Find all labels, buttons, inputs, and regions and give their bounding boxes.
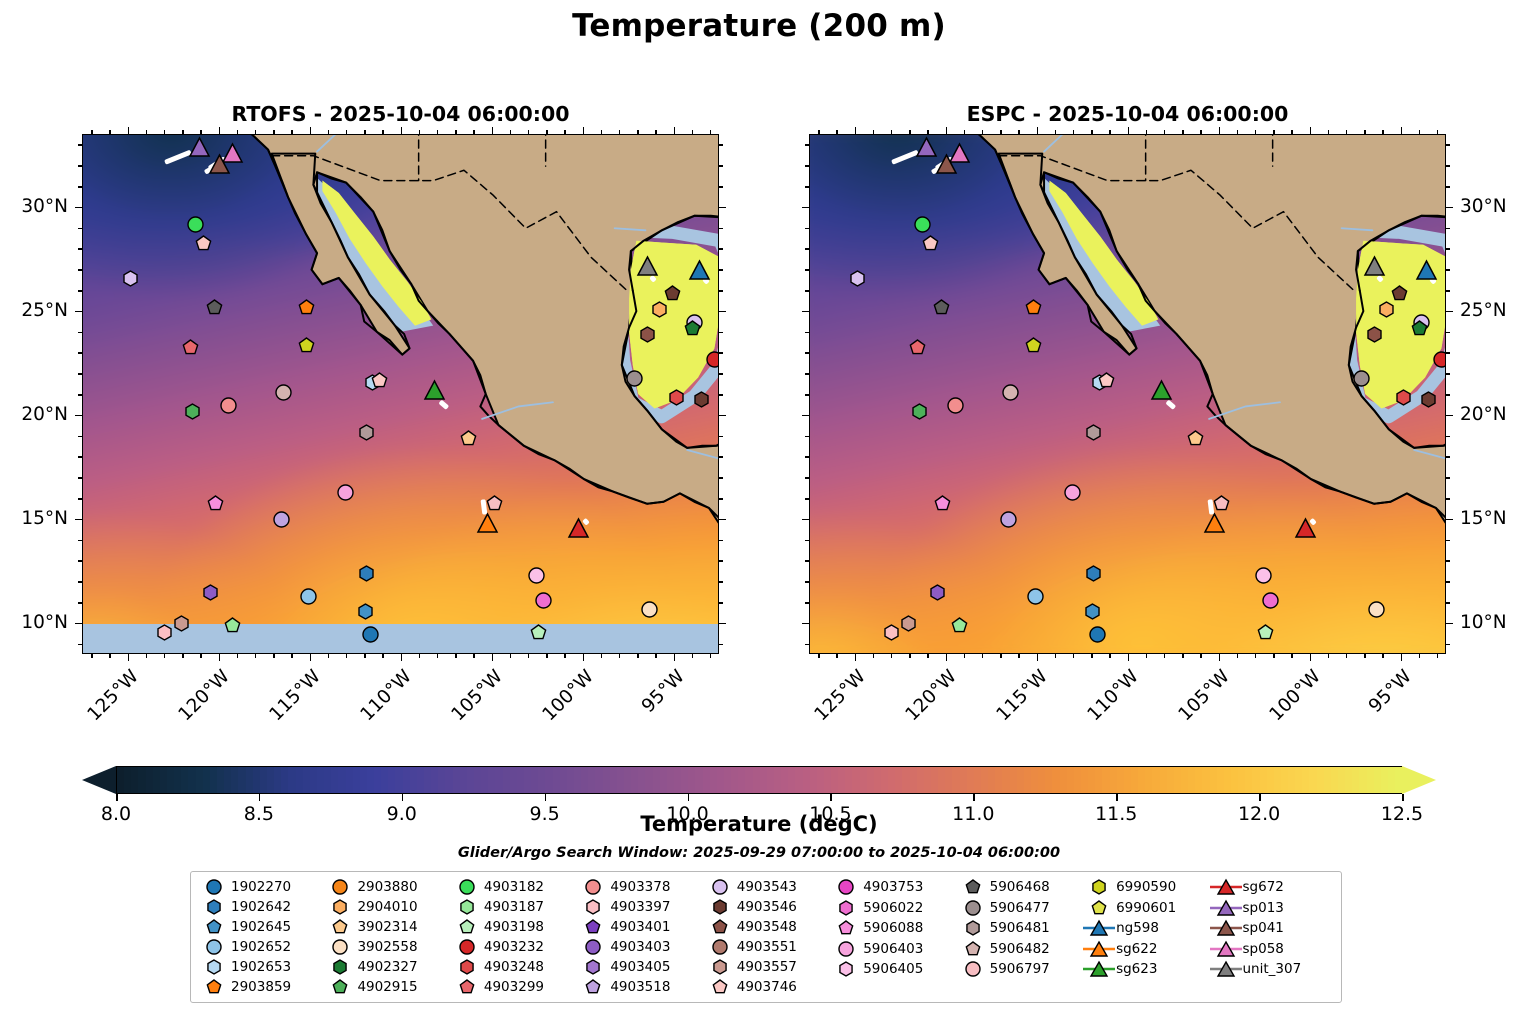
colorbar-tick <box>973 794 975 801</box>
y-axis-minor-tick <box>1446 498 1450 500</box>
colorbar-segment <box>1074 767 1081 793</box>
colorbar-segment <box>1067 767 1074 793</box>
platform-marker-5906477[interactable] <box>1353 370 1370 387</box>
platform-marker-4903518[interactable] <box>1000 511 1017 528</box>
legend-label: 5906477 <box>990 900 1050 916</box>
platform-marker-4903551[interactable] <box>486 495 503 512</box>
x-axis-minor-tick <box>601 654 603 658</box>
platform-marker-4903248[interactable] <box>1395 389 1412 406</box>
legend-label: 5906797 <box>990 961 1050 977</box>
legend-label: 4903518 <box>610 979 670 995</box>
colorbar-segment <box>1145 767 1152 793</box>
legend-item-4903557[interactable]: 4903557 <box>703 957 827 977</box>
colorbar-segment <box>603 767 610 793</box>
colorbar-segment <box>353 767 360 793</box>
y-axis-minor-tick <box>78 144 82 146</box>
legend-item-4903546[interactable]: 4903546 <box>703 897 827 917</box>
platform-marker-4903378[interactable] <box>947 397 964 414</box>
x-axis-minor-tick <box>1273 130 1275 134</box>
colorbar-segment <box>960 767 967 793</box>
x-axis-minor-tick <box>364 654 366 658</box>
x-axis-tick <box>1128 127 1130 134</box>
legend-label: 4903232 <box>484 939 544 955</box>
y-axis-minor-tick <box>78 269 82 271</box>
colorbar-segment <box>410 767 417 793</box>
colorbar-segment <box>1267 767 1274 793</box>
y-axis-tick <box>802 311 809 313</box>
platform-marker-5906468[interactable] <box>206 299 223 316</box>
legend-label: 2904010 <box>357 899 417 915</box>
platform-marker-5906405[interactable] <box>528 567 545 584</box>
glider-marker-icon <box>1082 939 1116 959</box>
x-axis-minor-tick <box>146 130 148 134</box>
platform-marker-5906403[interactable] <box>337 484 354 501</box>
legend-item-4903187[interactable]: 4903187 <box>450 897 574 917</box>
platform-marker-4903753[interactable] <box>693 391 710 408</box>
platform-marker-5906482[interactable] <box>275 384 292 401</box>
platform-marker-sg672[interactable] <box>568 518 589 539</box>
platform-marker-3902558[interactable] <box>1368 601 1385 618</box>
y-axis-minor-tick <box>78 436 82 438</box>
legend-item-5906468[interactable]: 5906468 <box>956 877 1080 898</box>
legend-item-1902645[interactable]: 1902645 <box>197 917 321 937</box>
colorbar-segment <box>1302 767 1309 793</box>
legend-item-sp041[interactable]: sp041 <box>1209 918 1333 939</box>
platform-marker-5906088[interactable] <box>934 495 951 512</box>
colorbar-segment <box>1110 767 1117 793</box>
x-axis-minor-tick <box>1000 654 1002 658</box>
colorbar-segment <box>1195 767 1202 793</box>
x-axis-minor-tick <box>1164 654 1166 658</box>
circle-marker-icon <box>956 898 990 918</box>
legend-label: 5906405 <box>863 961 923 977</box>
y-axis-minor-tick <box>1446 144 1450 146</box>
glider-marker-icon <box>1209 959 1243 979</box>
y-axis-minor-tick <box>78 165 82 167</box>
x-axis-label: 120°W <box>166 666 233 733</box>
platform-marker-4903557[interactable] <box>900 615 917 632</box>
colorbar-segment <box>517 767 524 793</box>
platform-marker-4903397[interactable] <box>883 624 900 641</box>
platform-marker-4903403[interactable] <box>929 584 946 601</box>
platform-marker-4903543[interactable] <box>849 270 866 287</box>
platform-marker-5906405[interactable] <box>1255 567 1272 584</box>
colorbar-segment <box>303 767 310 793</box>
y-axis-minor-tick <box>805 373 809 375</box>
pentagon-marker-icon <box>197 977 231 997</box>
legend-item-4903198[interactable]: 4903198 <box>450 917 574 937</box>
legend-item-4903232[interactable]: 4903232 <box>450 937 574 957</box>
legend-item-1902642[interactable]: 1902642 <box>197 897 321 917</box>
colorbar-tick <box>688 794 690 801</box>
platform-marker-5906477[interactable] <box>626 370 643 387</box>
platform-marker-6990590[interactable] <box>298 337 315 354</box>
x-axis-minor-tick <box>328 130 330 134</box>
legend-item-4903548[interactable]: 4903548 <box>703 917 827 937</box>
colorbar-extend-low-arrow <box>82 766 116 794</box>
platform-marker-5906088[interactable] <box>207 495 224 512</box>
platform-marker-5906403[interactable] <box>1064 484 1081 501</box>
legend-item-1902653[interactable]: 1902653 <box>197 957 321 977</box>
colorbar-segment <box>338 767 345 793</box>
platform-marker-4903182[interactable] <box>914 216 931 233</box>
colorbar-segment <box>574 767 581 793</box>
x-axis-minor-tick <box>1382 130 1384 134</box>
platform-marker-ng598[interactable] <box>689 260 710 281</box>
legend-item-5906482[interactable]: 5906482 <box>956 939 1080 960</box>
x-axis-minor-tick <box>1055 130 1057 134</box>
legend-item-4903403[interactable]: 4903403 <box>576 937 700 957</box>
colorbar-segment <box>1045 767 1052 793</box>
x-axis-label: 125°W <box>802 666 869 733</box>
glider-marker-icon <box>1082 918 1116 938</box>
y-axis-tick <box>75 207 82 209</box>
platform-marker-5906481[interactable] <box>358 424 375 441</box>
colorbar-segment <box>1202 767 1209 793</box>
legend-item-5906477[interactable]: 5906477 <box>956 898 1080 919</box>
legend-label: 4903378 <box>610 879 670 895</box>
platform-marker-5906022[interactable] <box>535 592 552 609</box>
x-axis-minor-tick <box>1091 654 1093 658</box>
platform-marker-1902642[interactable] <box>358 565 375 582</box>
platform-marker-ng598[interactable] <box>1416 260 1437 281</box>
platform-marker-sp041[interactable] <box>936 154 957 175</box>
legend-item-5906088[interactable]: 5906088 <box>829 918 953 939</box>
x-axis-minor-tick <box>510 130 512 134</box>
platform-marker-sg623[interactable] <box>1151 380 1172 401</box>
pentagon-marker-icon <box>703 977 737 997</box>
legend-item-sg622[interactable]: sg622 <box>1082 939 1206 960</box>
map-rtofs[interactable] <box>82 134 719 654</box>
legend-item-sg623[interactable]: sg623 <box>1082 959 1206 980</box>
x-axis-tick <box>1310 127 1312 134</box>
platform-marker-1902652[interactable] <box>300 588 317 605</box>
legend-item-4903518[interactable]: 4903518 <box>576 977 700 997</box>
platform-marker-4903403[interactable] <box>202 584 219 601</box>
legend-item-5906403[interactable]: 5906403 <box>829 939 953 960</box>
legend-label: 4903551 <box>737 939 797 955</box>
y-axis-minor-tick <box>78 581 82 583</box>
x-axis-minor-tick <box>1018 654 1020 658</box>
x-axis-tick <box>1219 654 1221 661</box>
x-axis-minor-tick <box>182 130 184 134</box>
x-axis-minor-tick <box>146 654 148 658</box>
legend-item-4903405[interactable]: 4903405 <box>576 957 700 977</box>
legend-item-4903401[interactable]: 4903401 <box>576 917 700 937</box>
legend-item-3902558[interactable]: 3902558 <box>323 937 447 957</box>
platform-marker-sp041[interactable] <box>209 154 230 175</box>
platform-marker-4903753[interactable] <box>1420 391 1437 408</box>
colorbar-segment <box>767 767 774 793</box>
colorbar-segment <box>917 767 924 793</box>
platform-marker-6990590[interactable] <box>1025 337 1042 354</box>
y-axis-tick <box>802 207 809 209</box>
x-axis-minor-tick <box>909 654 911 658</box>
y-axis-minor-tick <box>1446 540 1450 542</box>
colorbar-segment <box>588 767 595 793</box>
x-axis-minor-tick <box>1182 654 1184 658</box>
y-axis-tick <box>75 519 82 521</box>
y-axis-minor-tick <box>805 394 809 396</box>
platform-marker-5906468[interactable] <box>933 299 950 316</box>
colorbar-segment <box>660 767 667 793</box>
x-axis-minor-tick <box>564 654 566 658</box>
legend-item-4903378[interactable]: 4903378 <box>576 877 700 897</box>
platform-marker-1902652[interactable] <box>1027 588 1044 605</box>
x-axis-minor-tick <box>710 130 712 134</box>
colorbar-segment <box>374 767 381 793</box>
legend-label: 4903401 <box>610 919 670 935</box>
platform-marker-sg622[interactable] <box>1204 513 1225 534</box>
platform-marker-4903546[interactable] <box>1391 285 1408 302</box>
platform-marker-1902270[interactable] <box>1089 626 1106 643</box>
y-axis-minor-tick <box>805 186 809 188</box>
platform-marker-sg672[interactable] <box>1295 518 1316 539</box>
x-axis-minor-tick <box>291 130 293 134</box>
x-axis-minor-tick <box>1237 654 1239 658</box>
platform-marker-5906482[interactable] <box>1002 384 1019 401</box>
legend-item-5906405[interactable]: 5906405 <box>829 959 953 980</box>
colorbar-segment <box>1038 767 1045 793</box>
y-axis-tick <box>719 519 726 521</box>
platform-marker-4903551[interactable] <box>1213 495 1230 512</box>
x-axis-minor-tick <box>237 654 239 658</box>
y-axis-minor-tick <box>719 228 723 230</box>
x-axis-minor-tick <box>1346 130 1348 134</box>
y-axis-minor-tick <box>719 644 723 646</box>
platform-marker-4903232[interactable] <box>1433 351 1446 368</box>
x-axis-minor-tick <box>237 130 239 134</box>
y-axis-minor-tick <box>1446 477 1450 479</box>
legend-item-unit_307[interactable]: unit_307 <box>1209 959 1333 980</box>
hexagon-marker-icon <box>197 957 231 977</box>
platform-marker-4903548[interactable] <box>639 326 656 343</box>
x-axis-minor-tick <box>1419 130 1421 134</box>
pentagon-marker-icon <box>956 877 990 897</box>
y-axis-minor-tick <box>1446 581 1450 583</box>
platform-marker-4902915[interactable] <box>911 403 928 420</box>
x-axis-label: 105°W <box>1166 666 1233 733</box>
y-axis-minor-tick <box>719 373 723 375</box>
legend-column: 2903880290401039023143902558490232749029… <box>323 877 447 997</box>
x-axis-tick <box>401 654 403 661</box>
colorbar-segment <box>1138 767 1145 793</box>
platform-marker-2904010[interactable] <box>1378 301 1395 318</box>
legend-item-ng598[interactable]: ng598 <box>1082 918 1206 939</box>
platform-marker-2903859[interactable] <box>298 299 315 316</box>
platform-marker-1902645[interactable] <box>1084 603 1101 620</box>
legend-item-sp058[interactable]: sp058 <box>1209 939 1333 960</box>
y-axis-label-right: 30°N <box>1460 196 1507 217</box>
legend-item-1902270[interactable]: 1902270 <box>197 877 321 897</box>
legend-item-4902915[interactable]: 4902915 <box>323 977 447 997</box>
legend-item-4903248[interactable]: 4903248 <box>450 957 574 977</box>
colorbar-segment <box>238 767 245 793</box>
platform-marker-4903746b[interactable] <box>371 372 388 389</box>
y-axis-minor-tick <box>78 228 82 230</box>
y-axis-minor-tick <box>78 644 82 646</box>
hexagon-marker-icon <box>450 897 484 917</box>
platform-marker-unit_307[interactable] <box>1364 256 1385 277</box>
y-axis-minor-tick <box>78 477 82 479</box>
platform-marker-3902558[interactable] <box>641 601 658 618</box>
platform-marker-4903746b[interactable] <box>1098 372 1115 389</box>
y-axis-minor-tick <box>1446 186 1450 188</box>
legend-label: 5906088 <box>863 920 923 936</box>
y-axis-minor-tick <box>805 456 809 458</box>
platform-marker-3902314[interactable] <box>460 430 477 447</box>
platform-marker-1902270[interactable] <box>362 626 379 643</box>
x-axis-minor-tick <box>1055 654 1057 658</box>
colorbar-segment <box>945 767 952 793</box>
legend-column: 4903543490354649035484903551490355749037… <box>703 877 827 997</box>
y-axis-minor-tick <box>78 394 82 396</box>
y-axis-tick <box>802 415 809 417</box>
platform-marker-4903746[interactable] <box>195 235 212 252</box>
platform-marker-4903299[interactable] <box>909 339 926 356</box>
legend-item-5906022[interactable]: 5906022 <box>829 898 953 919</box>
colorbar-segment <box>902 767 909 793</box>
colorbar-segment <box>1060 767 1067 793</box>
y-axis-minor-tick <box>805 436 809 438</box>
platform-marker-sp013[interactable] <box>189 137 210 158</box>
colorbar-segment <box>224 767 231 793</box>
x-axis-minor-tick <box>546 654 548 658</box>
y-axis-minor-tick <box>805 644 809 646</box>
platform-marker-4903543[interactable] <box>122 270 139 287</box>
legend-item-sp013[interactable]: sp013 <box>1209 898 1333 919</box>
legend-item-3902314[interactable]: 3902314 <box>323 917 447 937</box>
colorbar-segment <box>717 767 724 793</box>
colorbar-segment <box>974 767 981 793</box>
legend-label: unit_307 <box>1243 961 1302 977</box>
platform-marker-4903232[interactable] <box>706 351 719 368</box>
colorbar-segment <box>1131 767 1138 793</box>
legend-item-2903859[interactable]: 2903859 <box>197 977 321 997</box>
colorbar-tick <box>1116 794 1118 801</box>
legend-label: 4903405 <box>610 959 670 975</box>
legend-item-sg672[interactable]: sg672 <box>1209 877 1333 898</box>
platform-marker-4903397[interactable] <box>156 624 173 641</box>
platform-marker-sg622[interactable] <box>477 513 498 534</box>
platform-marker-4903187[interactable] <box>951 617 968 634</box>
x-axis-minor-tick <box>1291 130 1293 134</box>
x-axis-label: 105°W <box>439 666 506 733</box>
colorbar-segment <box>131 767 138 793</box>
y-axis-minor-tick <box>805 165 809 167</box>
platform-marker-4902327[interactable] <box>684 320 701 337</box>
colorbar-segment <box>910 767 917 793</box>
y-axis-minor-tick <box>78 373 82 375</box>
platform-marker-4903378[interactable] <box>220 397 237 414</box>
platform-marker-4903182[interactable] <box>187 216 204 233</box>
colorbar-segment <box>553 767 560 793</box>
platform-marker-4903548[interactable] <box>1366 326 1383 343</box>
map-espc[interactable] <box>809 134 1446 654</box>
colorbar-segment <box>638 767 645 793</box>
platform-marker-4902915[interactable] <box>184 403 201 420</box>
hexagon-marker-icon <box>576 957 610 977</box>
x-axis-tick <box>946 127 948 134</box>
x-axis-minor-tick <box>1346 654 1348 658</box>
x-axis-tick <box>492 127 494 134</box>
platform-marker-4903746[interactable] <box>922 235 939 252</box>
platform-marker-2904010[interactable] <box>651 301 668 318</box>
platform-marker-4903299[interactable] <box>182 339 199 356</box>
legend-item-2904010[interactable]: 2904010 <box>323 897 447 917</box>
colorbar-segment <box>610 767 617 793</box>
platform-marker-sg623[interactable] <box>424 380 445 401</box>
legend-item-4903551[interactable]: 4903551 <box>703 937 827 957</box>
legend-column: 1902270190264219026451902652190265329038… <box>197 877 321 997</box>
legend-item-6990601[interactable]: 6990601 <box>1082 898 1206 919</box>
platform-marker-4902327[interactable] <box>1411 320 1428 337</box>
legend-item-4903753[interactable]: 4903753 <box>829 877 953 898</box>
legend-item-2903880[interactable]: 2903880 <box>323 877 447 897</box>
platform-marker-5906022[interactable] <box>1262 592 1279 609</box>
legend-item-6990590[interactable]: 6990590 <box>1082 877 1206 898</box>
colorbar-segment <box>317 767 324 793</box>
colorbar-segment <box>838 767 845 793</box>
legend-item-5906797[interactable]: 5906797 <box>956 959 1080 980</box>
platform-marker-4903546[interactable] <box>664 285 681 302</box>
legend-item-5906481[interactable]: 5906481 <box>956 918 1080 939</box>
y-axis-minor-tick <box>805 290 809 292</box>
colorbar-segment <box>395 767 402 793</box>
x-axis-minor-tick <box>891 654 893 658</box>
colorbar-segment <box>810 767 817 793</box>
circle-marker-icon <box>703 937 737 957</box>
platform-marker-4903198[interactable] <box>1257 624 1274 641</box>
x-axis-minor-tick <box>619 654 621 658</box>
legend-item-4903182[interactable]: 4903182 <box>450 877 574 897</box>
legend-item-4903299[interactable]: 4903299 <box>450 977 574 997</box>
platform-marker-2903859[interactable] <box>1025 299 1042 316</box>
x-axis-label: 95°W <box>621 666 688 733</box>
x-axis-minor-tick <box>927 654 929 658</box>
panel-espc-title: ESPC - 2025-10-04 06:00:00 <box>809 102 1446 126</box>
legend-item-4903746[interactable]: 4903746 <box>703 977 827 997</box>
legend-item-4903397[interactable]: 4903397 <box>576 897 700 917</box>
platform-marker-1902642[interactable] <box>1085 565 1102 582</box>
x-axis-minor-tick <box>455 654 457 658</box>
platform-marker-4903187[interactable] <box>224 617 241 634</box>
platform-marker-3902314[interactable] <box>1187 430 1204 447</box>
legend-item-4902327[interactable]: 4902327 <box>323 957 447 977</box>
y-axis-tick <box>719 311 726 313</box>
platform-marker-unit_307[interactable] <box>637 256 658 277</box>
y-axis-label-right: 15°N <box>1460 508 1507 529</box>
x-axis-minor-tick <box>1109 654 1111 658</box>
colorbar-segment <box>1174 767 1181 793</box>
platform-marker-1902645[interactable] <box>357 603 374 620</box>
platform-marker-4903248[interactable] <box>668 389 685 406</box>
x-axis-minor-tick <box>328 654 330 658</box>
legend-item-1902652[interactable]: 1902652 <box>197 937 321 957</box>
platform-marker-4903557[interactable] <box>173 615 190 632</box>
circle-marker-icon <box>703 877 737 897</box>
platform-marker-4903518[interactable] <box>273 511 290 528</box>
platform-marker-sp013[interactable] <box>916 137 937 158</box>
x-axis-minor-tick <box>692 130 694 134</box>
platform-marker-4903198[interactable] <box>530 624 547 641</box>
legend-item-4903543[interactable]: 4903543 <box>703 877 827 897</box>
y-axis-label-right: 20°N <box>1460 404 1507 425</box>
y-axis-minor-tick <box>719 352 723 354</box>
platform-marker-5906481[interactable] <box>1085 424 1102 441</box>
colorbar-segment <box>545 767 552 793</box>
x-axis-minor-tick <box>1237 130 1239 134</box>
